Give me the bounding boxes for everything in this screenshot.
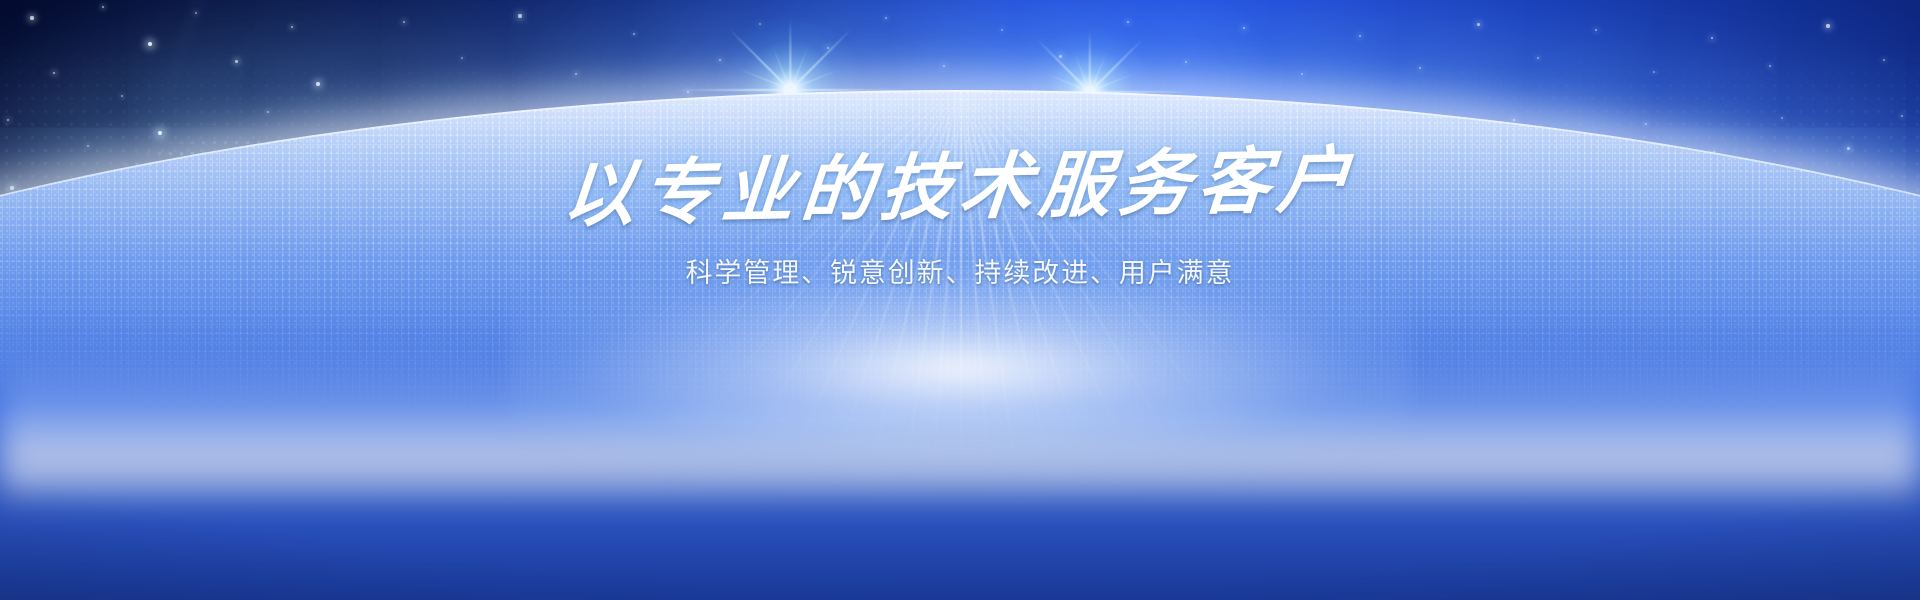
banner-content: 以专业的技术服务客户 科学管理、锐意创新、持续改进、用户满意 bbox=[0, 0, 1920, 600]
banner-headline: 以专业的技术服务客户 bbox=[560, 142, 1360, 232]
banner-subheadline: 科学管理、锐意创新、持续改进、用户满意 bbox=[686, 251, 1235, 290]
hero-banner: 以专业的技术服务客户 科学管理、锐意创新、持续改进、用户满意 bbox=[0, 0, 1920, 600]
